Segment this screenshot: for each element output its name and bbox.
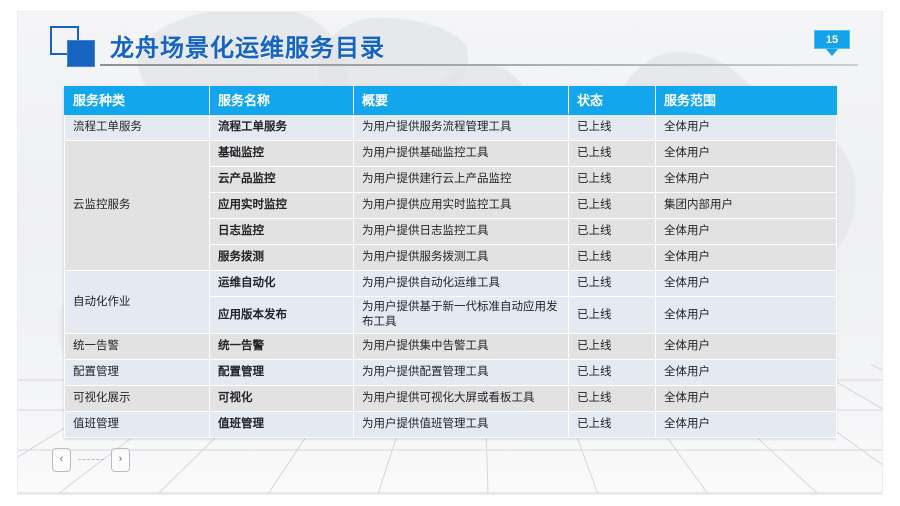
table-body: 流程工单服务流程工单服务为用户提供服务流程管理工具已上线全体用户云监控服务基础监… xyxy=(65,115,837,438)
column-header-summary: 概要 xyxy=(354,87,569,115)
next-slide-button[interactable]: › xyxy=(111,448,130,472)
cell-summary: 为用户提供应用实时监控工具 xyxy=(354,193,569,219)
slide-navigation: ‹ › xyxy=(52,448,130,472)
table-row: 值班管理值班管理为用户提供值班管理工具已上线全体用户 xyxy=(65,412,837,438)
cell-status: 已上线 xyxy=(569,193,656,219)
cell-category: 可视化展示 xyxy=(65,386,210,412)
cell-summary: 为用户提供基础监控工具 xyxy=(354,141,569,167)
cell-service-name: 日志监控 xyxy=(210,219,354,245)
cell-summary: 为用户提供基于新一代标准自动应用发布工具 xyxy=(354,297,569,334)
page-number-value: 15 xyxy=(814,30,850,49)
cell-category: 配置管理 xyxy=(65,360,210,386)
cell-summary: 为用户提供配置管理工具 xyxy=(354,360,569,386)
cell-category: 云监控服务 xyxy=(65,141,210,271)
cell-category: 流程工单服务 xyxy=(65,115,210,141)
cell-summary: 为用户提供日志监控工具 xyxy=(354,219,569,245)
cell-scope: 全体用户 xyxy=(656,167,837,193)
cell-service-name: 运维自动化 xyxy=(210,271,354,297)
cell-scope: 全体用户 xyxy=(656,386,837,412)
cell-scope: 全体用户 xyxy=(656,219,837,245)
cell-scope: 全体用户 xyxy=(656,334,837,360)
cell-summary: 为用户提供可视化大屏或看板工具 xyxy=(354,386,569,412)
cell-service-name: 流程工单服务 xyxy=(210,115,354,141)
page-badge-pointer xyxy=(826,49,838,56)
slide-header: 龙舟场景化运维服务目录 15 xyxy=(18,12,882,76)
cell-summary: 为用户提供建行云上产品监控 xyxy=(354,167,569,193)
cell-summary: 为用户提供集中告警工具 xyxy=(354,334,569,360)
column-header-scope: 服务范围 xyxy=(656,87,837,115)
cell-service-name: 基础监控 xyxy=(210,141,354,167)
cell-service-name: 统一告警 xyxy=(210,334,354,360)
cell-status: 已上线 xyxy=(569,141,656,167)
cell-status: 已上线 xyxy=(569,245,656,271)
cell-scope: 全体用户 xyxy=(656,271,837,297)
cell-status: 已上线 xyxy=(569,386,656,412)
cell-scope: 全体用户 xyxy=(656,297,837,334)
cell-scope: 全体用户 xyxy=(656,141,837,167)
nav-connector-dots xyxy=(78,459,104,461)
cell-scope: 集团内部用户 xyxy=(656,193,837,219)
table-row: 流程工单服务流程工单服务为用户提供服务流程管理工具已上线全体用户 xyxy=(65,115,837,141)
cell-summary: 为用户提供自动化运维工具 xyxy=(354,271,569,297)
cell-service-name: 可视化 xyxy=(210,386,354,412)
table-row: 可视化展示可视化为用户提供可视化大屏或看板工具已上线全体用户 xyxy=(65,386,837,412)
table-row: 云监控服务基础监控为用户提供基础监控工具已上线全体用户 xyxy=(65,141,837,167)
cell-status: 已上线 xyxy=(569,360,656,386)
cell-status: 已上线 xyxy=(569,334,656,360)
table-row: 统一告警统一告警为用户提供集中告警工具已上线全体用户 xyxy=(65,334,837,360)
cell-scope: 全体用户 xyxy=(656,115,837,141)
cell-service-name: 应用版本发布 xyxy=(210,297,354,334)
cell-service-name: 值班管理 xyxy=(210,412,354,438)
cell-service-name: 服务拨测 xyxy=(210,245,354,271)
cell-scope: 全体用户 xyxy=(656,245,837,271)
cell-scope: 全体用户 xyxy=(656,412,837,438)
cell-summary: 为用户提供服务流程管理工具 xyxy=(354,115,569,141)
cell-service-name: 应用实时监控 xyxy=(210,193,354,219)
cell-service-name: 云产品监控 xyxy=(210,167,354,193)
cell-scope: 全体用户 xyxy=(656,360,837,386)
table-row: 自动化作业运维自动化为用户提供自动化运维工具已上线全体用户 xyxy=(65,271,837,297)
slide-frame: 龙舟场景化运维服务目录 15 服务种类 服务名称 概要 状态 xyxy=(18,12,882,494)
table-header-row: 服务种类 服务名称 概要 状态 服务范围 xyxy=(65,87,837,115)
column-header-name: 服务名称 xyxy=(210,87,354,115)
cell-status: 已上线 xyxy=(569,271,656,297)
table-header: 服务种类 服务名称 概要 状态 服务范围 xyxy=(65,87,837,115)
blue-squares-logo-icon xyxy=(50,26,112,68)
cell-status: 已上线 xyxy=(569,219,656,245)
title-underline xyxy=(100,64,858,66)
slide-canvas: 龙舟场景化运维服务目录 15 服务种类 服务名称 概要 状态 xyxy=(0,0,900,506)
cell-summary: 为用户提供服务拨测工具 xyxy=(354,245,569,271)
cell-category: 值班管理 xyxy=(65,412,210,438)
cell-service-name: 配置管理 xyxy=(210,360,354,386)
column-header-category: 服务种类 xyxy=(65,87,210,115)
cell-category: 统一告警 xyxy=(65,334,210,360)
page-number-badge: 15 xyxy=(814,30,850,56)
service-catalog-table-wrapper: 服务种类 服务名称 概要 状态 服务范围 流程工单服务流程工单服务为用户提供服务… xyxy=(64,86,836,438)
service-catalog-table: 服务种类 服务名称 概要 状态 服务范围 流程工单服务流程工单服务为用户提供服务… xyxy=(64,86,837,438)
cell-status: 已上线 xyxy=(569,167,656,193)
prev-slide-button[interactable]: ‹ xyxy=(52,448,71,472)
logo-filled-square xyxy=(67,40,95,67)
cell-status: 已上线 xyxy=(569,297,656,334)
cell-status: 已上线 xyxy=(569,115,656,141)
cell-status: 已上线 xyxy=(569,412,656,438)
column-header-status: 状态 xyxy=(569,87,656,115)
cell-category: 自动化作业 xyxy=(65,271,210,334)
page-title: 龙舟场景化运维服务目录 xyxy=(110,28,385,63)
cell-summary: 为用户提供值班管理工具 xyxy=(354,412,569,438)
table-row: 配置管理配置管理为用户提供配置管理工具已上线全体用户 xyxy=(65,360,837,386)
